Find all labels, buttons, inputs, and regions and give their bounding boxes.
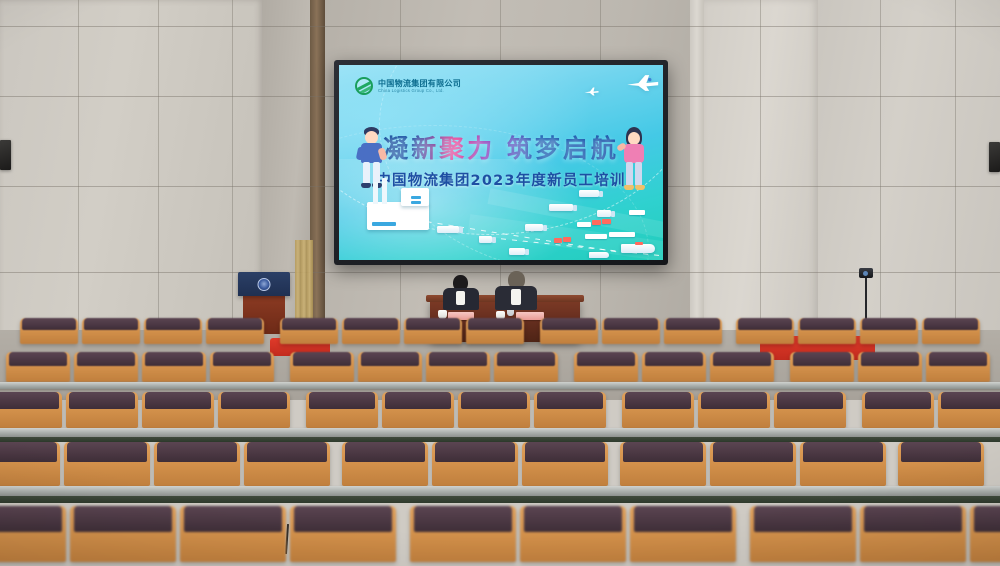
wall-speaker-right: [989, 142, 1000, 172]
folding-desk-row: [0, 486, 1000, 496]
auditorium-scene: 中国物流集团有限公司 China Logistics Group Co., Lt…: [0, 0, 1000, 566]
china-logistics-logo-icon: [355, 77, 373, 95]
institutional-emblem-icon: [258, 278, 271, 291]
presentation-slide: 中国物流集团有限公司 China Logistics Group Co., Lt…: [339, 65, 663, 260]
audience-seating: [0, 300, 1000, 566]
company-name-en: China Logistics Group Co., Ltd.: [378, 88, 461, 93]
led-display-screen: 中国物流集团有限公司 China Logistics Group Co., Lt…: [334, 60, 668, 265]
train-illustration: [585, 234, 607, 239]
truck-illustration: [437, 226, 459, 233]
company-name-cn: 中国物流集团有限公司: [378, 79, 461, 88]
company-logo: 中国物流集团有限公司 China Logistics Group Co., Lt…: [355, 77, 461, 95]
logistics-illustration: [339, 164, 663, 260]
folding-desk-row: [0, 382, 1000, 389]
desk-edge: [0, 496, 1000, 503]
cargo-ship-illustration: [621, 244, 655, 253]
airplane-icon: [584, 87, 599, 96]
airplane-icon: [626, 74, 660, 92]
folding-desk-row: [0, 428, 1000, 437]
wall-speaker-left: [0, 140, 11, 170]
